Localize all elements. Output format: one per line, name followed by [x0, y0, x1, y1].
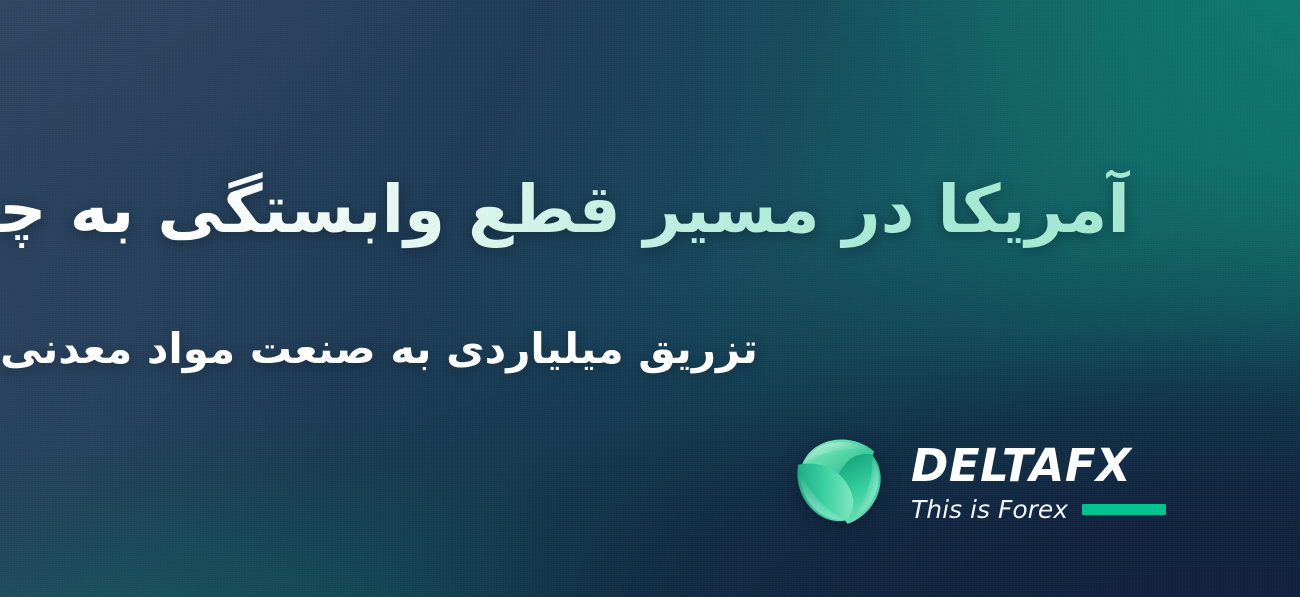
deltafx-tagline-row: This is Forex — [911, 497, 1166, 522]
banner-subheadline: تزریق میلیاردی به صنعت مواد معدنی — [0, 323, 1128, 376]
banner-content: آمریکا در مسیر قطع وابستگی به چین تزریق … — [0, 0, 1300, 597]
deltafx-wordmark: DELTAFX — [911, 443, 1166, 488]
deltafx-news-banner: آمریکا در مسیر قطع وابستگی به چین تزریق … — [0, 0, 1300, 597]
deltafx-accent-rule — [1082, 504, 1166, 515]
banner-headline: آمریکا در مسیر قطع وابستگی به چین — [0, 170, 1130, 249]
deltafx-logo: DELTAFX This is Forex — [783, 420, 1133, 540]
deltafx-swirl-logo-icon — [783, 423, 897, 537]
banner-subheadline-text: تزریق میلیاردی به صنعت مواد معدنی — [0, 323, 758, 376]
banner-headline-text: آمریکا در مسیر قطع وابستگی به چین — [0, 170, 1130, 249]
deltafx-tagline: This is Forex — [911, 497, 1068, 522]
deltafx-logo-text-block: DELTAFX This is Forex — [911, 439, 1166, 522]
